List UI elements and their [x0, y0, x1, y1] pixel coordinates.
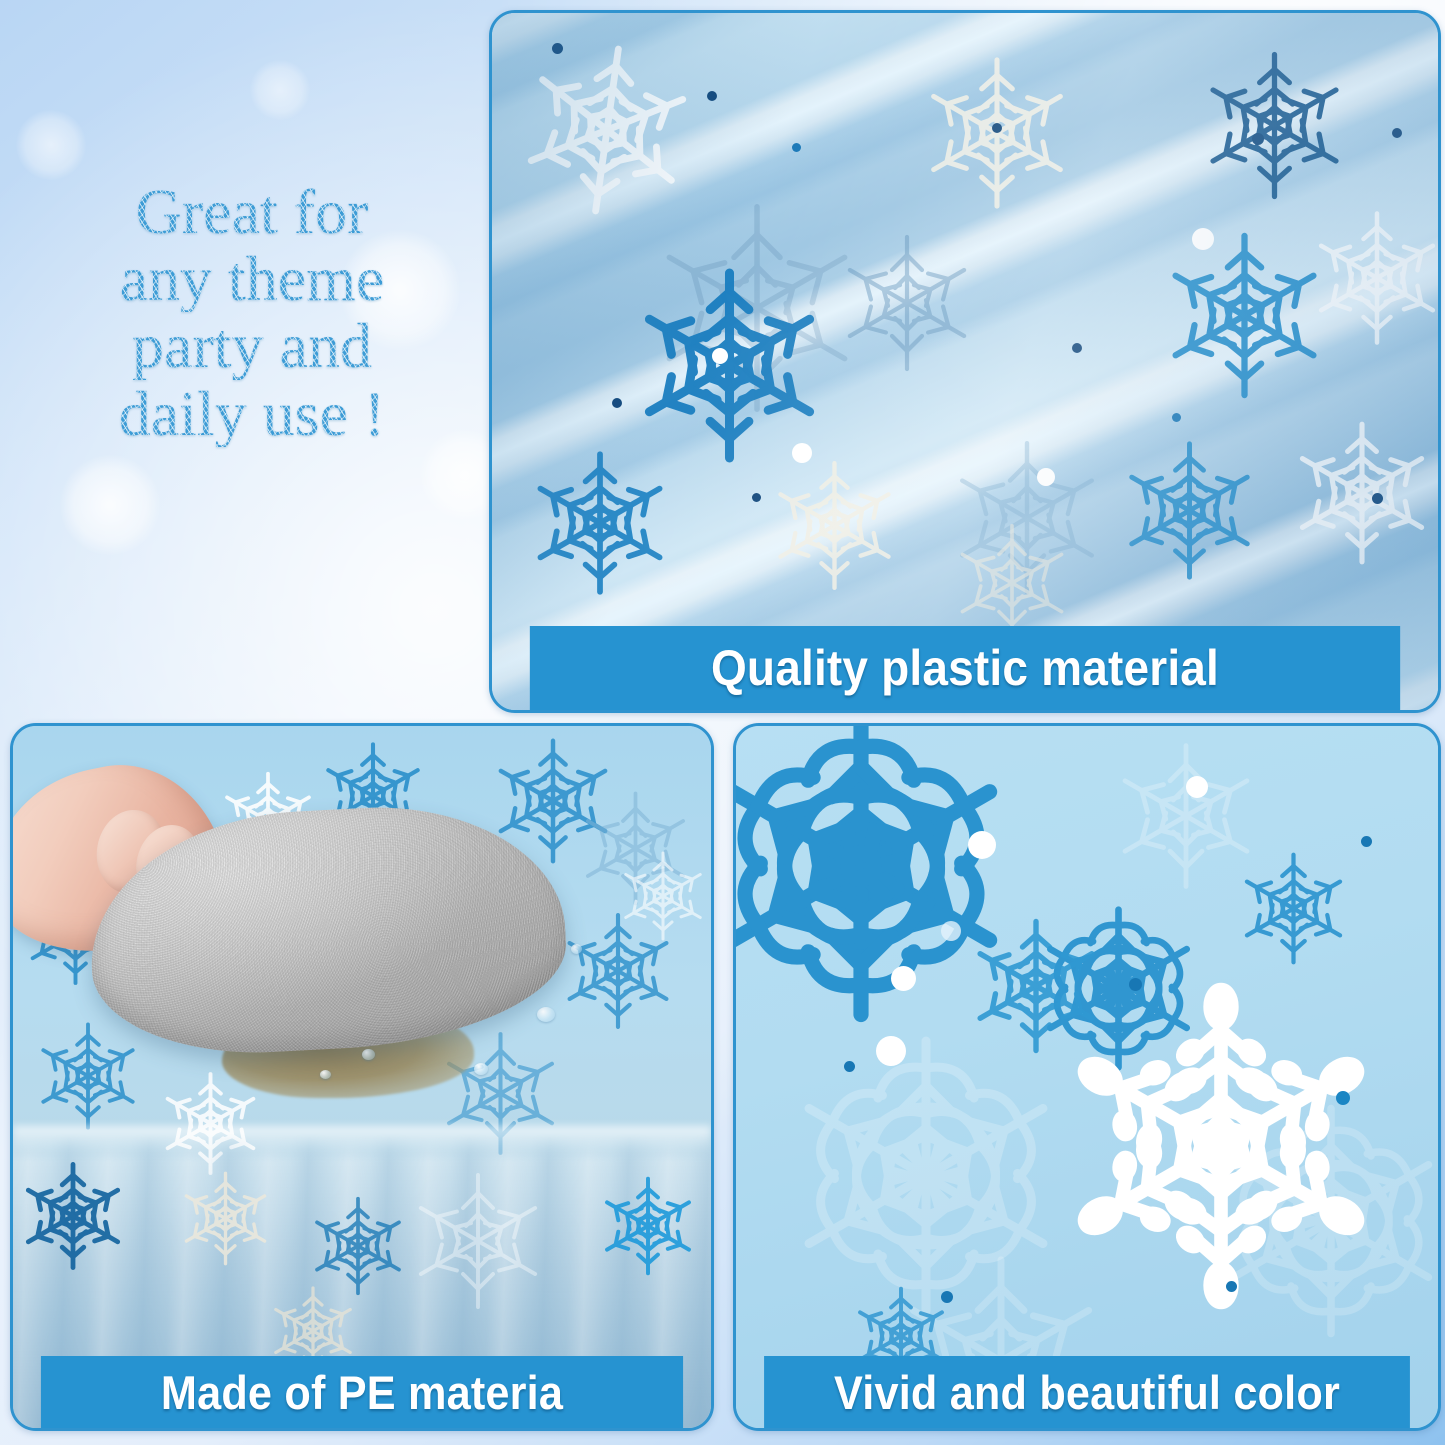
panel-quality-plastic-material: Quality plastic material — [489, 10, 1441, 713]
panel-made-of-pe-material: Made of PE materia — [10, 723, 714, 1431]
water-droplet — [474, 1063, 488, 1075]
caption-text: Vivid and beautiful color — [834, 1365, 1340, 1420]
water-droplet — [320, 1070, 331, 1079]
headline-line: any theme — [52, 245, 452, 312]
bokeh-dot — [16, 110, 86, 180]
page-title: Great for any theme party and daily use … — [52, 178, 452, 447]
caption-bar: Vivid and beautiful color — [764, 1356, 1410, 1428]
pattern-surface — [736, 726, 1438, 1428]
water-droplet — [362, 1049, 375, 1060]
caption-bar: Made of PE materia — [41, 1356, 683, 1428]
caption-bar: Quality plastic material — [530, 626, 1400, 710]
caption-text: Made of PE materia — [161, 1365, 563, 1420]
product-photo-color — [736, 726, 1438, 1428]
product-photo-wipe — [13, 726, 711, 1428]
headline-line: Great for — [52, 178, 452, 245]
roll-shading — [492, 13, 1438, 710]
water-droplet — [571, 944, 582, 954]
product-photo-roll — [492, 13, 1438, 710]
marketing-image: Great for any theme party and daily use … — [0, 0, 1445, 1445]
water-droplet — [537, 1007, 555, 1022]
panel-vivid-and-beautiful-color: Vivid and beautiful color — [733, 723, 1441, 1431]
headline-line: party and — [52, 312, 452, 379]
headline-line: daily use ! — [52, 380, 452, 447]
caption-text: Quality plastic material — [711, 639, 1219, 697]
bokeh-dot — [250, 60, 310, 120]
bokeh-dot — [60, 455, 160, 555]
